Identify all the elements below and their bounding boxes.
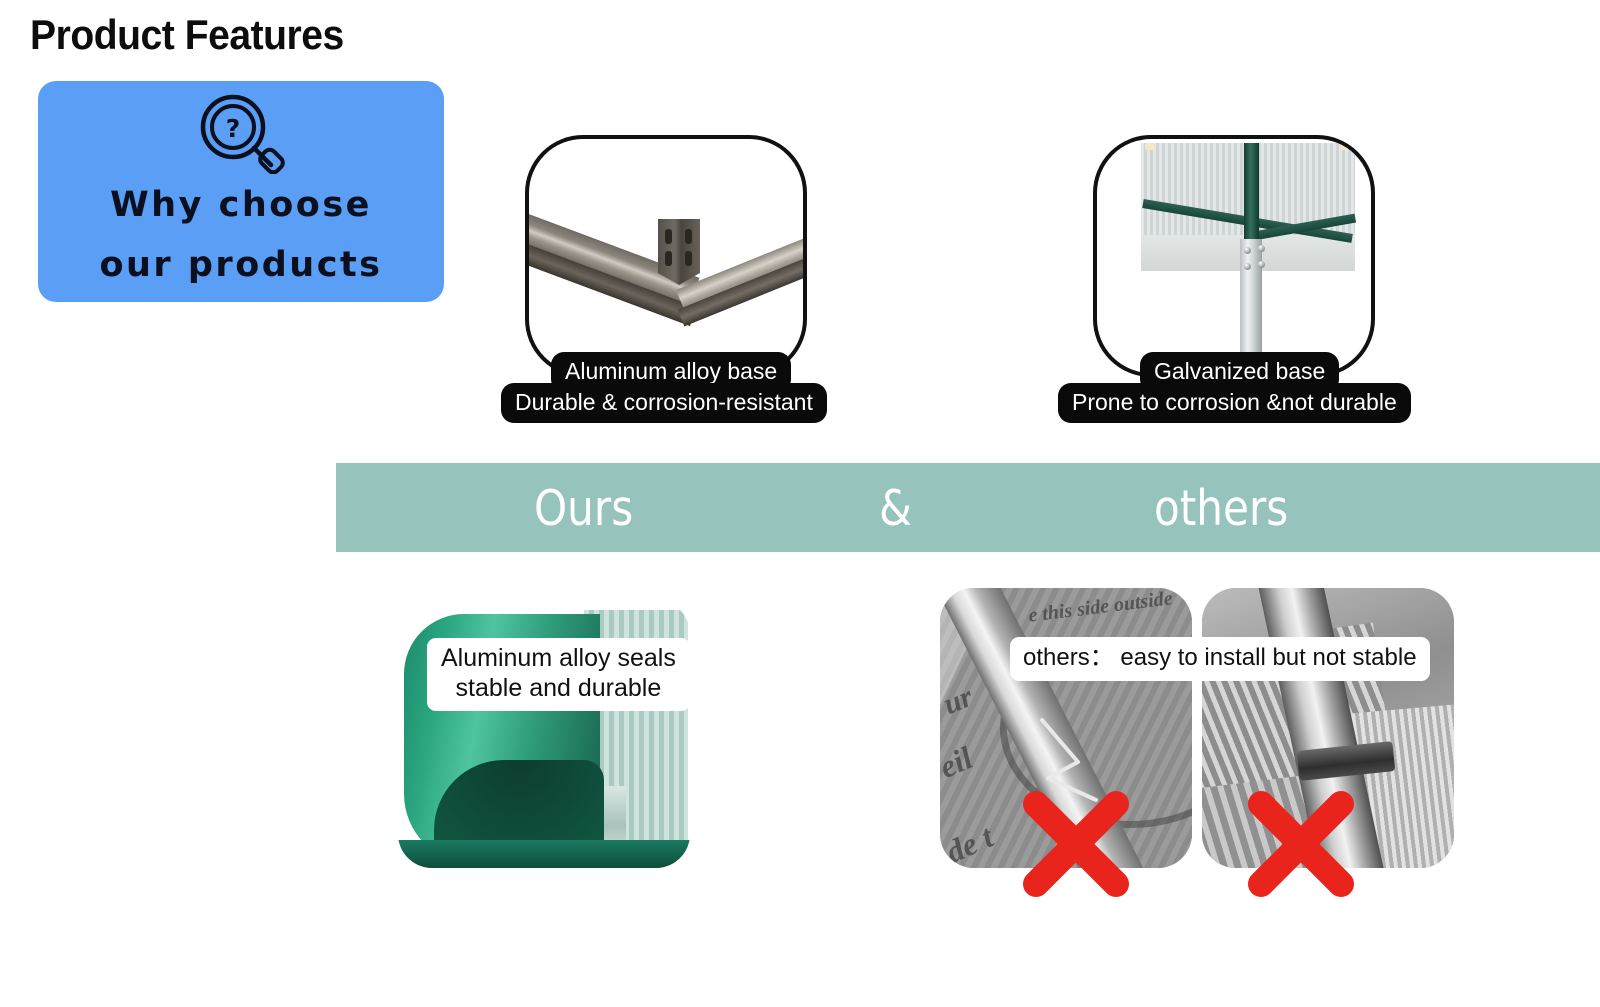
red-x-icon — [1020, 788, 1132, 900]
red-x-icon — [1245, 788, 1357, 900]
banner-label-amp: & — [879, 484, 912, 533]
photo-artwork-galvanized-base — [1097, 139, 1371, 373]
caption-durable-corrosion: Durable & corrosion-resistant — [501, 383, 827, 423]
page-title: Product Features — [30, 11, 344, 59]
caption-aluminum-alloy-seals: Aluminum alloy seals stable and durable — [427, 638, 690, 711]
caption-seal-line-1: Aluminum alloy seals — [441, 644, 676, 674]
svg-text:?: ? — [226, 114, 241, 143]
why-choose-line-1: Why choose — [110, 188, 372, 223]
photo-galvanized-base — [1093, 135, 1375, 377]
photo-aluminum-alloy-base — [525, 135, 807, 377]
why-choose-card: ? Why choose our products — [38, 81, 444, 302]
why-choose-line-2: our products — [99, 248, 382, 283]
caption-others-easy-install: others： easy to install but not stable — [1010, 637, 1430, 681]
banner-label-ours: Ours — [534, 484, 633, 533]
caption-prone-to-corrosion: Prone to corrosion &not durable — [1058, 383, 1411, 423]
photo-artwork-aluminum-base — [529, 139, 803, 373]
slide-canvas: Product Features ? Why choose our produc… — [0, 0, 1600, 1007]
caption-seal-line-2: stable and durable — [441, 674, 676, 704]
comparison-banner: Ours & others — [336, 463, 1600, 552]
banner-label-others: others — [1154, 484, 1288, 533]
magnifier-question-icon: ? — [189, 92, 293, 174]
